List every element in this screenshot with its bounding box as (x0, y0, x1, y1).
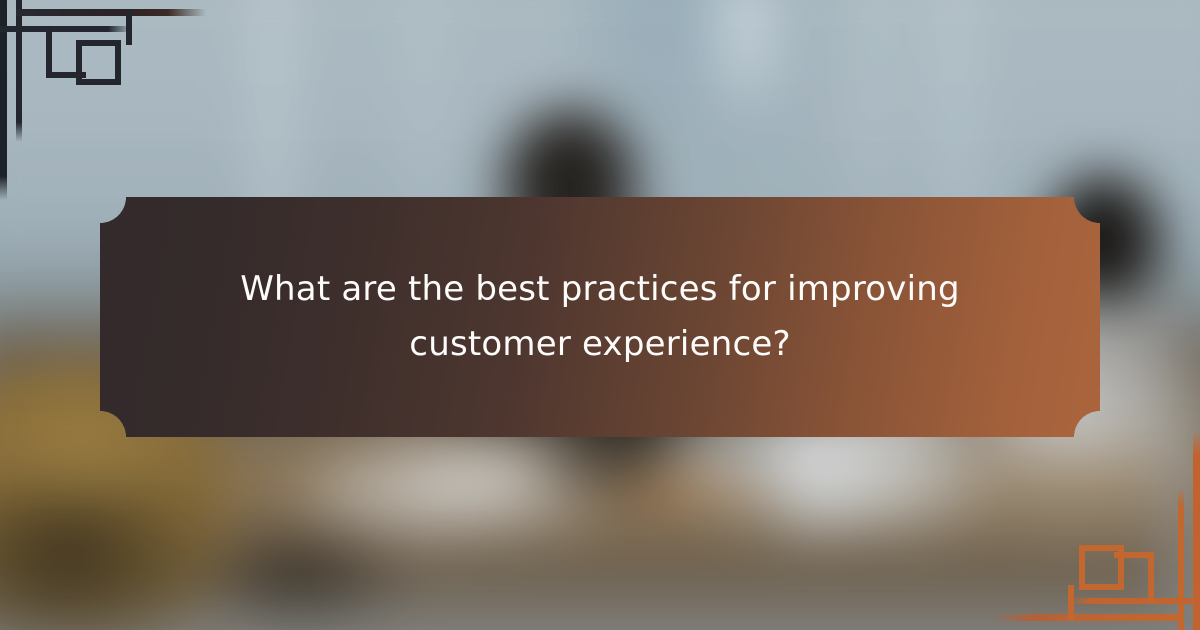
share-card: What are the best practices for improvin… (0, 0, 1200, 630)
question-text: What are the best practices for improvin… (220, 262, 980, 372)
question-banner: What are the best practices for improvin… (100, 197, 1100, 437)
